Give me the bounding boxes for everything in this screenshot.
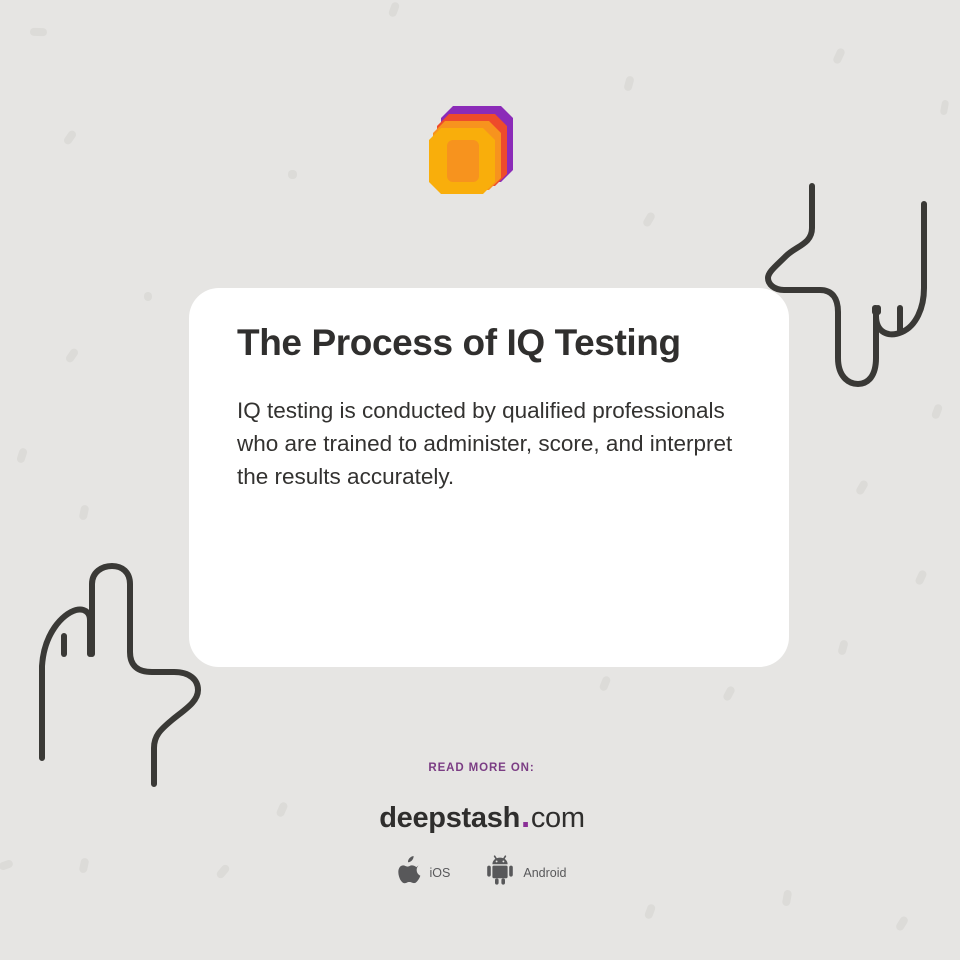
ios-store-badge[interactable]: iOS: [398, 856, 451, 889]
android-icon: [486, 855, 514, 890]
confetti-speck: [16, 447, 28, 464]
confetti-speck: [642, 211, 656, 228]
confetti-speck: [79, 504, 90, 520]
wordmark-brand: deepstash: [379, 802, 520, 834]
wordmark-dot: .: [520, 797, 531, 834]
android-store-badge[interactable]: Android: [486, 855, 566, 890]
read-more-label: READ MORE ON:: [0, 762, 960, 774]
confetti-speck: [623, 75, 635, 92]
deepstash-logo: [425, 100, 521, 200]
confetti-speck: [598, 675, 611, 692]
confetti-speck: [931, 403, 944, 420]
card-title: The Process of IQ Testing: [237, 322, 741, 365]
confetti-speck: [837, 639, 849, 656]
apple-icon: [398, 856, 421, 889]
deepstash-wordmark[interactable]: deepstash.com: [0, 799, 960, 833]
confetti-speck: [940, 100, 949, 116]
confetti-speck: [832, 47, 846, 65]
confetti-speck: [914, 569, 928, 586]
confetti-speck: [30, 28, 47, 37]
confetti-speck: [644, 903, 657, 920]
confetti-speck: [62, 129, 77, 146]
footer: READ MORE ON: deepstash.com iOS: [0, 762, 960, 890]
android-label: Android: [523, 866, 566, 880]
confetti-speck: [288, 170, 297, 179]
card-body-text: IQ testing is conducted by qualified pro…: [237, 394, 741, 494]
confetti-speck: [782, 889, 793, 906]
confetti-speck: [144, 292, 152, 301]
confetti-speck: [855, 479, 869, 496]
confetti-speck: [388, 1, 401, 18]
ios-label: iOS: [430, 866, 451, 880]
wordmark-tld: com: [531, 802, 585, 834]
idea-card: The Process of IQ Testing IQ testing is …: [189, 288, 789, 667]
confetti-speck: [64, 347, 79, 364]
confetti-speck: [895, 915, 910, 932]
confetti-speck: [722, 685, 736, 702]
idea-card-canvas: The Process of IQ Testing IQ testing is …: [0, 0, 960, 960]
store-badges: iOS: [0, 855, 960, 890]
